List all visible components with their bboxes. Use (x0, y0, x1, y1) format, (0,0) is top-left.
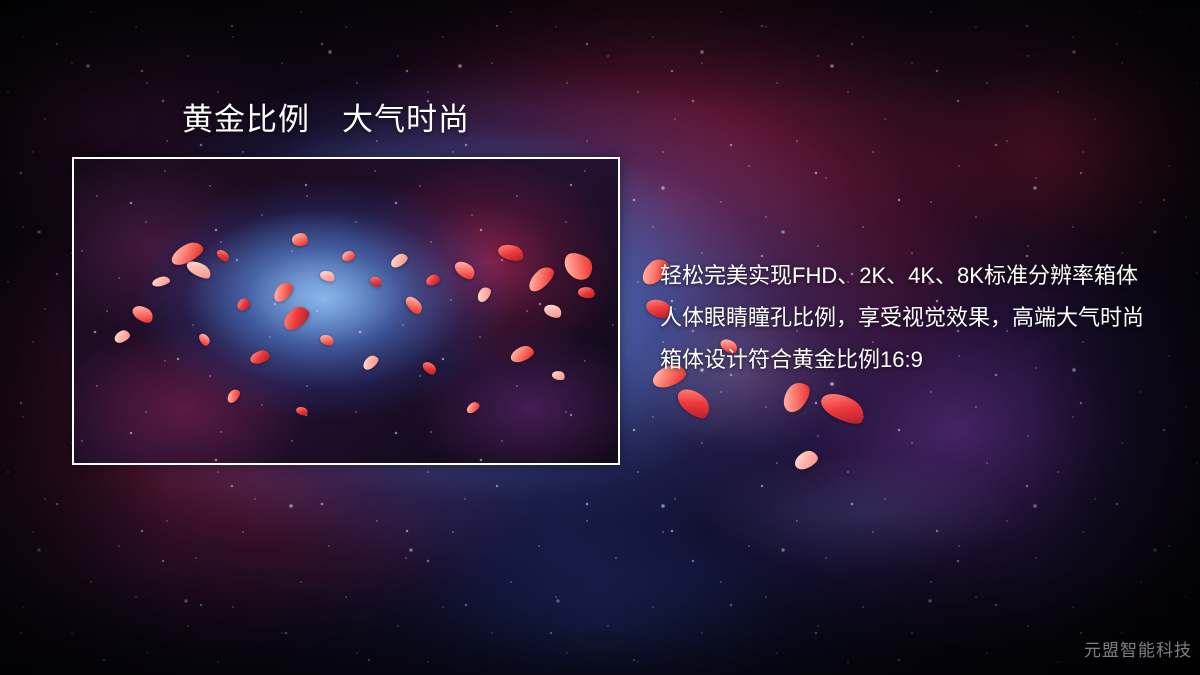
body-text-line-1: 轻松完美实现FHD、2K、4K、8K标准分辨率箱体 (660, 255, 1160, 297)
body-text-block: 轻松完美实现FHD、2K、4K、8K标准分辨率箱体 人体眼睛瞳孔比例，享受视觉效… (660, 255, 1160, 381)
photo-nebula (74, 159, 618, 463)
body-text-line-2: 人体眼睛瞳孔比例，享受视觉效果，高端大气时尚 (660, 297, 1160, 339)
presentation-slide: 黄金比例 大气时尚 (0, 0, 1200, 675)
photo-content (74, 159, 618, 463)
watermark: 元盟智能科技 (1084, 636, 1192, 661)
galaxy-petals-photo-frame (72, 157, 620, 465)
body-text-line-3: 箱体设计符合黄金比例16:9 (660, 339, 1160, 381)
slide-title: 黄金比例 大气时尚 (182, 101, 470, 139)
